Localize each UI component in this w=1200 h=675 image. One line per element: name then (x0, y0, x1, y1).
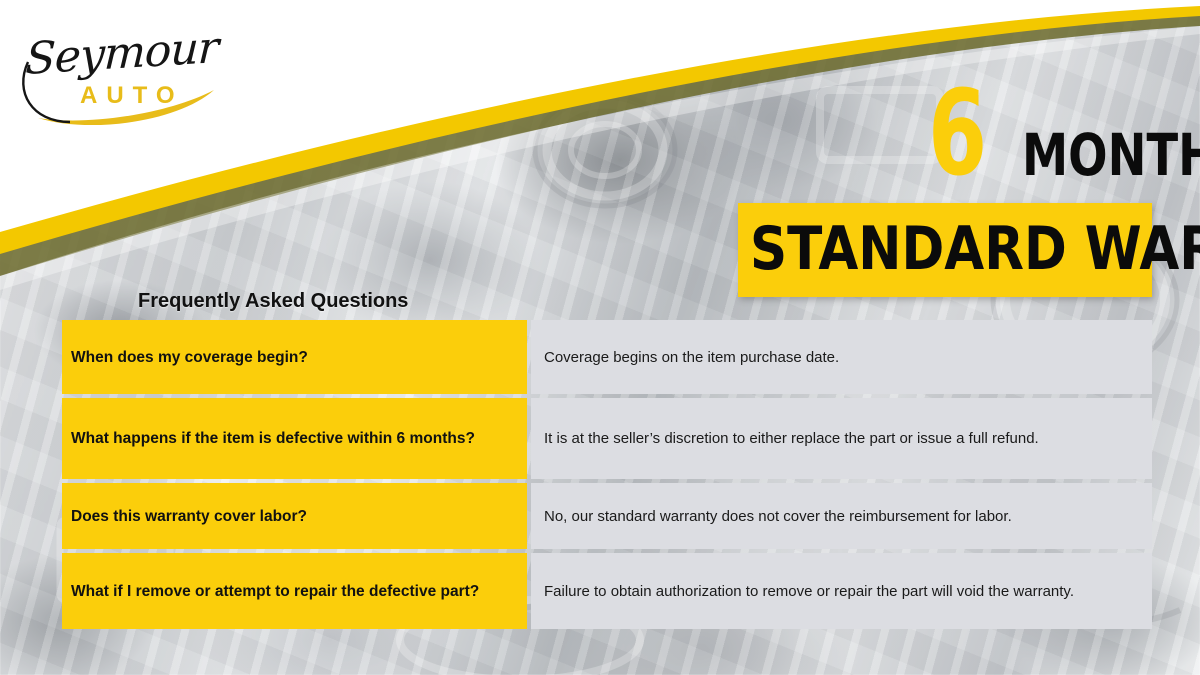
table-row: What happens if the item is defective wi… (62, 398, 1152, 479)
table-row: What if I remove or attempt to repair th… (62, 553, 1152, 629)
faq-table: When does my coverage begin? Coverage be… (62, 320, 1152, 633)
duration-number: 6 (928, 78, 986, 188)
faq-heading: Frequently Asked Questions (138, 290, 408, 313)
faq-question: Does this warranty cover labor? (62, 483, 527, 549)
seymour-auto-logo: Seymour AUTO (18, 22, 223, 130)
duration-unit: MONTH (1022, 126, 1200, 184)
faq-answer: Coverage begins on the item purchase dat… (531, 320, 1152, 394)
logo-subtext: AUTO (80, 82, 184, 110)
warranty-slide: Seymour AUTO 6 MONTH STANDARD WARRANTY F… (0, 0, 1200, 675)
faq-question: What happens if the item is defective wi… (62, 398, 527, 479)
standard-warranty-title: STANDARD WARRANTY (750, 219, 1087, 279)
faq-answer: It is at the seller’s discretion to eith… (531, 398, 1152, 479)
faq-answer: Failure to obtain authorization to remov… (531, 553, 1152, 629)
faq-answer: No, our standard warranty does not cover… (531, 483, 1152, 549)
table-row: Does this warranty cover labor? No, our … (62, 483, 1152, 549)
standard-warranty-banner: STANDARD WARRANTY (738, 203, 1152, 297)
table-row: When does my coverage begin? Coverage be… (62, 320, 1152, 394)
faq-question: When does my coverage begin? (62, 320, 527, 394)
faq-question: What if I remove or attempt to repair th… (62, 553, 527, 629)
